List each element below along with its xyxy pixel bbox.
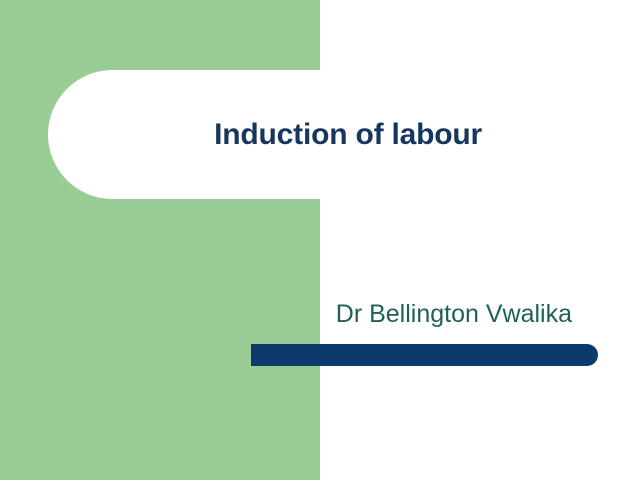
accent-bar xyxy=(251,344,598,366)
page-title: Induction of labour xyxy=(48,70,500,199)
slide-subtitle-author: Dr Bellington Vwalika xyxy=(200,297,572,331)
presentation-slide: Induction of labour Dr Bellington Vwalik… xyxy=(0,0,640,480)
